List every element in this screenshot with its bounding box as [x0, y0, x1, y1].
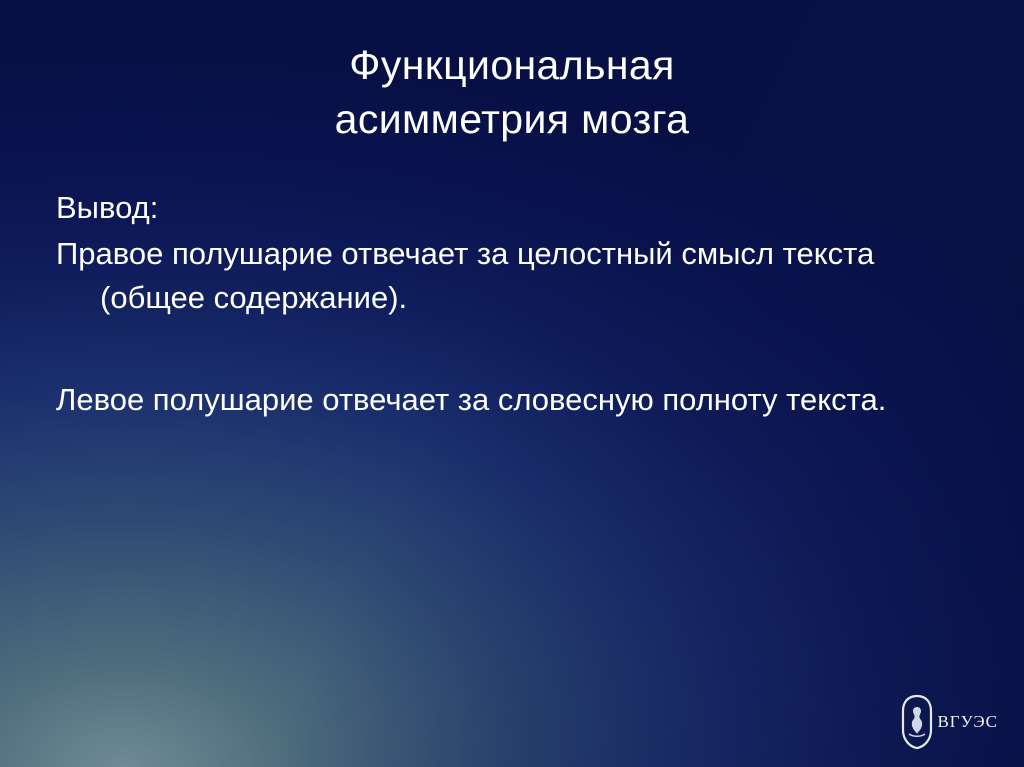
paragraph-right-hemisphere: Правое полушарие отвечает за целостный с…	[56, 232, 956, 320]
page-title: Функциональная асимметрия мозга	[0, 38, 1024, 146]
page-title-line-1: Функциональная	[349, 42, 674, 88]
vgues-logo: ВГУЭС	[878, 691, 998, 753]
page-title-line-2: асимметрия мозга	[0, 92, 1024, 146]
conclusion-label: Вывод:	[56, 186, 956, 230]
slide: Функциональная асимметрия мозга Вывод: П…	[0, 0, 1024, 767]
slide-body: Вывод: Правое полушарие отвечает за цело…	[56, 186, 956, 424]
paragraph-spacer	[56, 322, 956, 378]
logo-text: ВГУЭС	[937, 712, 998, 732]
logo-emblem-icon	[900, 694, 934, 750]
paragraph-left-hemisphere: Левое полушарие отвечает за словесную по…	[56, 378, 956, 422]
